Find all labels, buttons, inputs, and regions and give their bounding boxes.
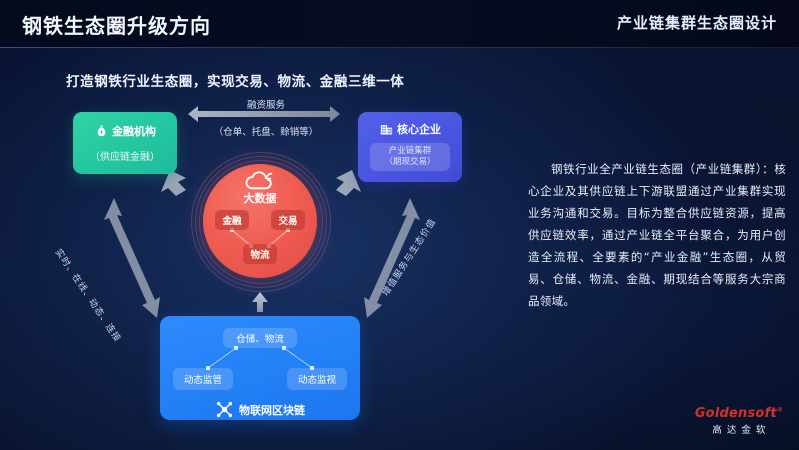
money-bag-icon: [94, 124, 109, 139]
description-paragraph: 钢铁行业全产业链生态圈（产业链集群）：核心企业及其供应链上下游联盟通过产业集群实…: [528, 158, 786, 313]
iot-node-storage-logistics[interactable]: 仓储、物流: [223, 328, 297, 348]
financial-institution-card[interactable]: 金融机构 （供应链金融）: [73, 112, 177, 174]
core-enterprise-pill-line1: 产业链集群: [370, 146, 450, 157]
core-enterprise-label: 核心企业: [397, 121, 441, 137]
hub-node-finance[interactable]: 金融: [215, 210, 249, 230]
iot-blockchain-label: 物联网区块链: [239, 402, 305, 418]
core-enterprise-pill-line2: （期现交易）: [370, 157, 450, 168]
diagonal-label-value: 增值服务与生态价值: [379, 215, 439, 298]
big-data-hub[interactable]: 大数据 金融 交易 物流: [191, 152, 329, 290]
goldensoft-logo: Goldensoft® 高达金软: [695, 406, 783, 436]
hub-node-trade[interactable]: 交易: [271, 210, 305, 230]
financial-institution-label: 金融机构: [112, 123, 156, 139]
financial-institution-sublabel: （供应链金融）: [73, 148, 177, 163]
building-icon: [379, 122, 394, 137]
arrow-center-to-iot: [252, 292, 268, 312]
financial-card-header: 金融机构: [73, 123, 177, 139]
header-subtitle: 产业链集群生态圈设计: [617, 12, 777, 33]
page-title: 钢铁生态圈升级方向: [22, 10, 211, 39]
slide-canvas: 钢铁生态圈升级方向 产业链集群生态圈设计 打造钢铁行业生态圈，实现交易、物流、金…: [0, 0, 799, 450]
logo-trademark: ®: [777, 407, 783, 414]
core-enterprise-header: 核心企业: [358, 121, 462, 137]
logo-english-text: Goldensoft: [695, 406, 777, 421]
hub-node-logistics[interactable]: 物流: [243, 244, 277, 264]
iot-node-dynamic-supervision[interactable]: 动态监管: [173, 368, 233, 390]
cloud-wifi-icon: [241, 168, 279, 192]
slide-header: 钢铁生态圈升级方向 产业链集群生态圈设计: [0, 0, 799, 48]
iot-node-dynamic-monitoring[interactable]: 动态监视: [287, 368, 347, 390]
arrow-left-realtime: [104, 198, 160, 318]
iot-blockchain-panel[interactable]: 仓储、物流 动态监管 动态监视 物联网区块链: [160, 316, 360, 420]
diagonal-label-realtime: 实时、在线、动态、连接: [53, 246, 125, 344]
logo-chinese: 高达金软: [695, 422, 783, 436]
core-enterprise-card[interactable]: 核心企业 产业链集群 （期现交易）: [358, 112, 462, 182]
connector-financing-label: 融资服务: [186, 97, 346, 111]
slide-subtitle: 打造钢铁行业生态圈，实现交易、物流、金融三维一体: [66, 70, 404, 90]
big-data-label: 大数据: [191, 190, 329, 206]
core-enterprise-pill: 产业链集群 （期现交易）: [370, 143, 450, 171]
iot-footer: 物联网区块链: [160, 400, 360, 419]
blockchain-node-icon: [215, 400, 234, 419]
connector-financing-sublabel: （仓单、托盘、赊销等）: [176, 124, 356, 138]
logo-english: Goldensoft®: [695, 406, 783, 421]
